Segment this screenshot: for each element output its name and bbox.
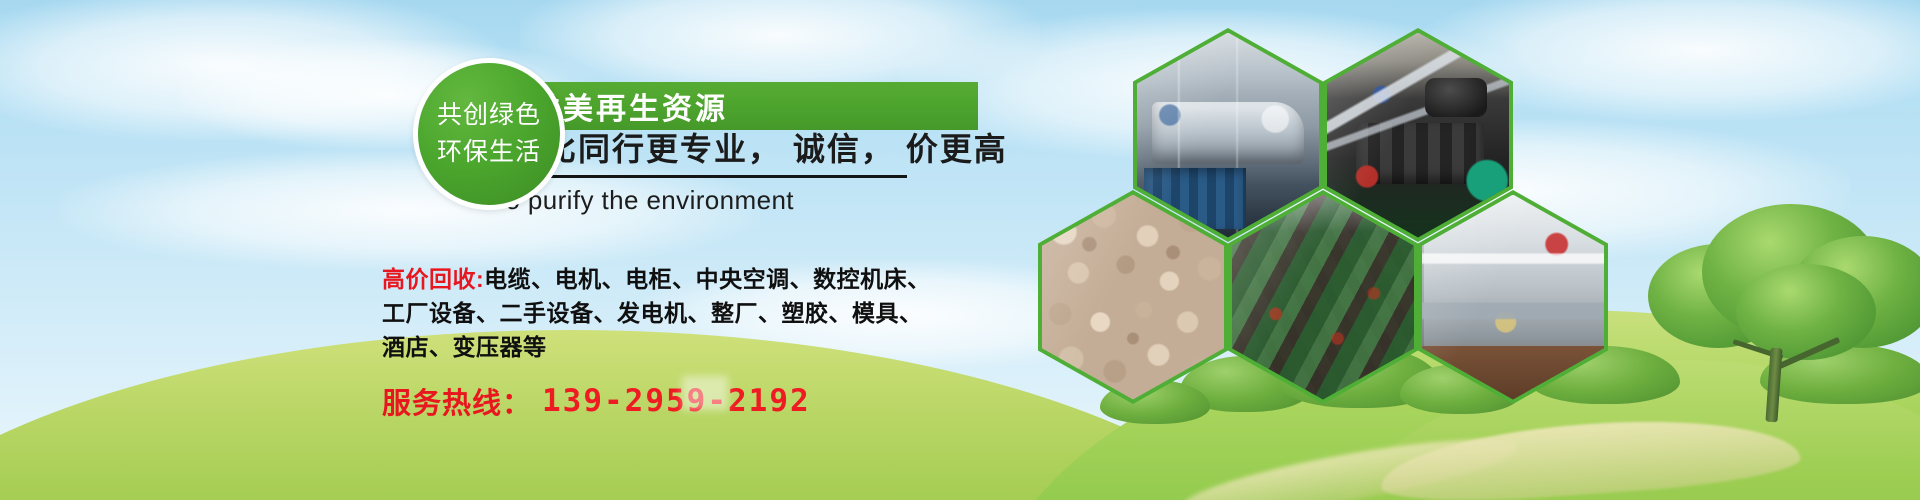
recycle-label: 高价回收:: [382, 266, 484, 292]
banner-content: 共创绿色 环保生活 益美再生资源 比同行更专业， 诚信， 价更高 To puri…: [0, 0, 1000, 500]
recycle-list: 高价回收:电缆、电机、电柜、中央空调、数控机床、 工厂设备、二手设备、发电机、整…: [382, 262, 982, 364]
hotline-number[interactable]: 139-2959-2192: [542, 383, 811, 419]
recycle-line-1: 高价回收:电缆、电机、电柜、中央空调、数控机床、: [382, 262, 982, 296]
eco-slogan-badge: 共创绿色 环保生活: [413, 58, 565, 210]
service-hotline[interactable]: 服务热线： 139-2959-2192: [382, 380, 811, 422]
tagline-underline: [544, 175, 907, 178]
recycle-items-1: 电缆、电机、电柜、中央空调、数控机床、: [484, 266, 931, 292]
promo-banner: 共创绿色 环保生活 益美再生资源 比同行更专业， 诚信， 价更高 To puri…: [0, 0, 1920, 500]
recycle-line-3: 酒店、变压器等: [382, 330, 982, 364]
big-tree: [1640, 192, 1920, 422]
badge-line-1: 共创绿色: [437, 97, 541, 135]
hotline-label: 服务热线：: [382, 380, 532, 422]
recycle-line-2: 工厂设备、二手设备、发电机、整厂、塑胶、模具、: [382, 296, 982, 330]
badge-line-2: 环保生活: [437, 134, 541, 172]
hexagon-photo-collage: [1020, 28, 1620, 418]
